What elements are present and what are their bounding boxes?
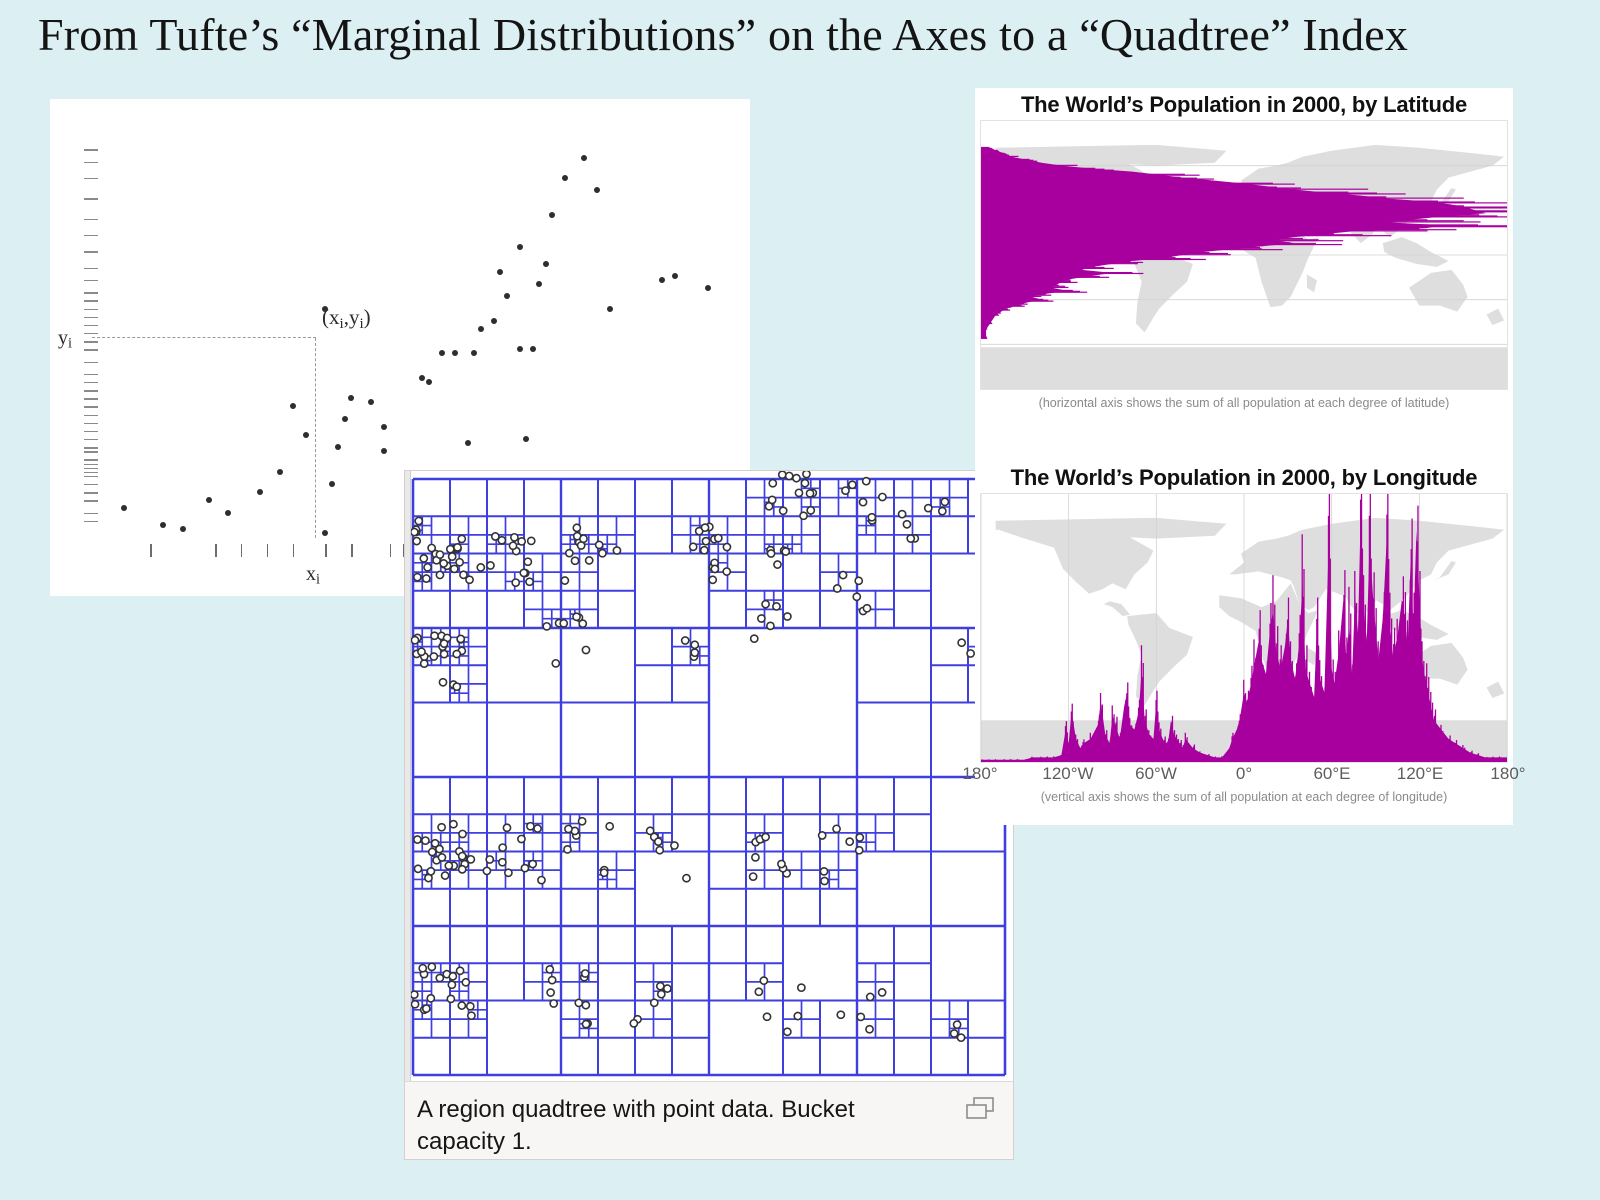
longitude-population-bar — [1140, 717, 1141, 762]
latitude-population-bar — [981, 196, 1386, 197]
quadtree-data-point — [509, 542, 516, 549]
quadtree-data-point — [565, 825, 572, 832]
y-rug-tick — [84, 162, 98, 163]
quadtree-data-point — [546, 966, 553, 973]
scatter-point — [257, 489, 263, 495]
world-map-landmass — [1409, 270, 1467, 312]
figure-left-margin — [405, 471, 411, 1081]
quadtree-data-point — [763, 1013, 770, 1020]
quadtree-data-point — [573, 613, 580, 620]
latitude-population-bar — [981, 208, 1399, 209]
quadtree-data-point — [758, 615, 765, 622]
scatter-point — [465, 440, 471, 446]
y-rug-tick — [84, 492, 98, 493]
scatter-point — [517, 244, 523, 250]
y-guide-dashed-line — [92, 337, 316, 338]
latitude-population-bar — [981, 202, 1507, 203]
x-rug-tick — [325, 544, 326, 557]
quadtree-data-point — [879, 493, 886, 500]
latitude-population-bar — [981, 289, 1048, 290]
world-map-landmass — [1127, 613, 1193, 705]
quadtree-data-point — [421, 660, 428, 667]
quadtree-data-point — [798, 984, 805, 991]
latitude-population-bar — [981, 181, 1210, 182]
page-title: From Tufte’s “Marginal Distributions” on… — [38, 8, 1538, 61]
quadtree-data-point — [415, 517, 422, 524]
quadtree-data-point — [538, 877, 545, 884]
quadtree-data-point — [439, 679, 446, 686]
y-rug-tick — [84, 280, 98, 281]
y-rug-tick — [84, 317, 98, 318]
longitude-population-bar — [1062, 754, 1063, 762]
quadtree-data-point — [429, 848, 436, 855]
y-rug-tick — [84, 149, 98, 150]
quadtree-data-point — [839, 571, 846, 578]
quadtree-data-point — [431, 632, 438, 639]
latitude-population-bar — [981, 158, 1010, 159]
quadtree-data-point — [723, 543, 730, 550]
quadtree-data-point — [547, 989, 554, 996]
latitude-population-bar — [981, 301, 1053, 302]
scatter-point — [121, 505, 127, 511]
quadtree-data-point — [418, 648, 425, 655]
scatter-point — [497, 269, 503, 275]
latitude-population-bar — [981, 190, 1277, 191]
latitude-population-bar — [981, 220, 1464, 221]
quadtree-data-point — [528, 537, 535, 544]
latitude-population-bar — [981, 223, 1363, 224]
y-rug-tick — [84, 333, 98, 334]
y-rug-tick — [84, 439, 98, 440]
quadtree-data-point — [664, 985, 671, 992]
longitude-population-bar — [1300, 656, 1301, 762]
quadtree-data-point — [518, 835, 525, 842]
world-map-landmass — [1307, 274, 1317, 292]
quadtree-data-point — [414, 836, 421, 843]
quadtree-data-point — [571, 557, 578, 564]
quadtree-data-point — [564, 846, 571, 853]
y-axis-label: yi — [58, 327, 72, 353]
latitude-population-bar — [981, 241, 1233, 242]
longitude-population-bar — [989, 760, 990, 762]
quadtree-data-point — [430, 653, 437, 660]
quadtree-data-point — [414, 574, 421, 581]
quadtree-data-point — [941, 498, 948, 505]
quadtree-data-point — [458, 1002, 465, 1009]
quadtree-data-point — [582, 970, 589, 977]
longitude-population-bar — [1286, 634, 1287, 762]
longitude-population-bar — [1018, 760, 1019, 762]
quadtree-data-point — [939, 508, 946, 515]
longitude-population-bar — [1106, 730, 1107, 762]
quadtree-data-point — [691, 649, 698, 656]
y-rug-tick — [84, 292, 98, 293]
longitude-population-bar — [1011, 760, 1012, 762]
longitude-population-bar — [1146, 709, 1147, 762]
quadtree-data-point — [438, 854, 445, 861]
quadtree-data-point — [769, 496, 776, 503]
quadtree-data-point — [468, 1012, 475, 1019]
quadtree-data-point — [498, 537, 505, 544]
quadtree-data-point — [411, 991, 418, 998]
quadtree-data-point — [436, 974, 443, 981]
longitude-population-bar — [1411, 519, 1412, 762]
scatter-point — [517, 346, 523, 352]
quadtree-data-point — [447, 546, 454, 553]
quadtree-data-point — [833, 825, 840, 832]
quadtree-data-point — [767, 550, 774, 557]
quadtree-data-point — [586, 557, 593, 564]
quadtree-data-point — [467, 1003, 474, 1010]
quadtree-data-point — [526, 578, 533, 585]
longitude-population-bar — [1255, 658, 1256, 762]
longitude-population-bar — [1420, 629, 1421, 762]
longitude-population-bar — [1277, 626, 1278, 762]
longitude-population-bar — [1417, 506, 1418, 762]
longitude-tick-label: 120°E — [1397, 764, 1444, 784]
x-axis-label-text: x — [306, 563, 316, 585]
quadtree-data-point — [820, 868, 827, 875]
longitude-population-bar — [1471, 751, 1472, 762]
latitude-population-bar — [981, 193, 1406, 194]
longitude-population-bar — [982, 759, 983, 762]
longitude-population-bar — [1004, 759, 1005, 762]
quadtree-data-point — [441, 640, 448, 647]
quadtree-data-point — [779, 471, 786, 478]
longitude-population-bar — [1292, 661, 1293, 762]
quadtree-data-point — [786, 472, 793, 479]
y-rug-tick — [84, 268, 98, 269]
quadtree-data-point — [561, 577, 568, 584]
quadtree-data-point — [529, 860, 536, 867]
quadtree-data-point — [499, 844, 506, 851]
scatter-point — [348, 395, 354, 401]
longitude-population-bar — [1356, 603, 1357, 762]
quadtree-data-point — [467, 856, 474, 863]
quadtree-data-point — [582, 646, 589, 653]
y-rug-tick — [84, 459, 98, 460]
longitude-population-bar — [1267, 661, 1268, 762]
quadtree-data-point — [855, 577, 862, 584]
quadtree-data-point — [800, 512, 807, 519]
x-rug-tick — [215, 544, 216, 557]
longitude-population-bar — [1113, 714, 1114, 762]
quadtree-data-point — [782, 548, 789, 555]
longitude-population-bar — [1128, 706, 1129, 762]
quadtree-data-point — [751, 635, 758, 642]
quadtree-data-point — [534, 825, 541, 832]
y-rug-tick — [84, 382, 98, 383]
quadtree-data-point — [573, 524, 580, 531]
longitude-tick-label: 0° — [1236, 764, 1252, 784]
expand-image-icon[interactable] — [965, 1096, 995, 1122]
quadtree-data-point — [582, 1021, 589, 1028]
quadtree-data-point — [566, 550, 573, 557]
latitude-population-bar — [981, 338, 987, 339]
quadtree-data-point — [511, 534, 518, 541]
scatter-point — [491, 318, 497, 324]
longitude-population-bar — [1091, 737, 1092, 762]
quadtree-data-point — [543, 623, 550, 630]
world-map-landmass — [1487, 682, 1505, 698]
quadtree-data-point — [856, 834, 863, 841]
world-map-landmass — [1383, 237, 1449, 267]
quadtree-data-point — [853, 593, 860, 600]
quadtree-data-point — [656, 847, 663, 854]
longitude-population-bar — [1318, 646, 1319, 762]
latitude-population-bar — [981, 155, 1009, 156]
longitude-population-bar — [1084, 746, 1085, 762]
longitude-tick-label: 120°W — [1042, 764, 1093, 784]
scatter-point — [594, 187, 600, 193]
quadtree-data-point — [436, 571, 443, 578]
quadtree-data-point — [846, 838, 853, 845]
latitude-chart — [980, 120, 1508, 390]
quadtree-data-point — [459, 830, 466, 837]
x-rug-tick — [351, 544, 352, 557]
longitude-population-bar — [1373, 572, 1374, 762]
longitude-population-bar — [1033, 758, 1034, 762]
quadtree-data-point — [512, 579, 519, 586]
longitude-chart-title: The World’s Population in 2000, by Longi… — [975, 465, 1513, 491]
quadtree-data-point — [560, 620, 567, 627]
scatter-point — [419, 375, 425, 381]
longitude-population-bar — [1432, 703, 1433, 762]
quadtree-data-point — [438, 824, 445, 831]
latitude-population-bar — [981, 307, 1011, 308]
y-rug-tick — [84, 362, 98, 363]
quadtree-data-point — [499, 859, 506, 866]
latitude-population-bar — [981, 217, 1362, 218]
scatter-point — [672, 273, 678, 279]
quadtree-data-point — [856, 847, 863, 854]
world-map-landmass — [1434, 561, 1456, 580]
y-rug-tick — [84, 300, 98, 301]
quadtree-data-point — [954, 1021, 961, 1028]
scatter-point — [659, 277, 665, 283]
quadtree-data-point — [682, 637, 689, 644]
scatter-point — [342, 416, 348, 422]
scatter-point — [329, 481, 335, 487]
latitude-population-bar — [981, 280, 1071, 281]
longitude-population-bar — [1486, 757, 1487, 762]
quadtree-data-point — [582, 1002, 589, 1009]
y-rug-tick — [84, 468, 98, 469]
quadtree-data-point — [925, 505, 932, 512]
longitude-population-bar — [1081, 746, 1082, 762]
quadtree-data-point — [967, 650, 974, 657]
y-rug-tick — [84, 341, 98, 342]
scatter-point — [160, 522, 166, 528]
longitude-population-bar — [1160, 729, 1161, 762]
longitude-population-bar — [1072, 721, 1073, 762]
quadtree-data-point — [834, 585, 841, 592]
latitude-population-bar — [981, 292, 1087, 293]
quadtree-data-point — [773, 603, 780, 610]
quadtree-data-point — [457, 635, 464, 642]
quadtree-data-point — [868, 514, 875, 521]
scatter-point — [581, 155, 587, 161]
scatter-point — [368, 399, 374, 405]
quadtree-data-point — [442, 872, 449, 879]
scatter-point — [206, 497, 212, 503]
longitude-population-bar — [1379, 661, 1380, 762]
y-axis-label-subscript: i — [68, 336, 72, 352]
longitude-population-bar — [1143, 663, 1144, 762]
latitude-chart-caption: (horizontal axis shows the sum of all po… — [975, 396, 1513, 410]
latitude-population-bar — [981, 268, 1114, 269]
longitude-population-bar — [1303, 569, 1304, 762]
quadtree-caption-bar: A region quadtree with point data. Bucke… — [405, 1081, 1013, 1159]
quadtree-data-point — [691, 641, 698, 648]
quadtree-data-point — [657, 983, 664, 990]
latitude-population-bar — [981, 256, 1172, 257]
longitude-population-bar — [1169, 745, 1170, 762]
longitude-population-bar — [1414, 639, 1415, 762]
quadtree-data-point — [793, 475, 800, 482]
longitude-population-bar — [1335, 699, 1336, 762]
quadtree-data-point — [596, 541, 603, 548]
quadtree-data-point — [803, 471, 810, 478]
y-rug-tick — [84, 374, 98, 375]
quadtree-data-point — [658, 991, 665, 998]
longitude-population-bar — [1384, 592, 1385, 762]
latitude-population-bar — [981, 259, 1206, 260]
longitude-population-bar — [1186, 737, 1187, 762]
longitude-population-bar — [1296, 663, 1297, 762]
quadtree-data-point — [709, 576, 716, 583]
longitude-population-bar — [1157, 712, 1158, 762]
longitude-population-bar — [997, 760, 998, 762]
world-map-landmass — [981, 347, 1507, 389]
longitude-population-bar — [1479, 756, 1480, 762]
quadtree-data-point — [690, 543, 697, 550]
quadtree-data-point — [767, 622, 774, 629]
quadtree-data-point — [613, 547, 620, 554]
longitude-population-bar — [1172, 716, 1173, 762]
quadtree-data-point — [819, 832, 826, 839]
latitude-population-bar — [981, 229, 1456, 230]
y-rug-tick — [84, 464, 98, 465]
quadtree-data-point — [466, 576, 473, 583]
longitude-population-bar — [1110, 746, 1111, 762]
latitude-population-bar — [981, 214, 1479, 215]
latitude-population-bar — [981, 286, 1065, 287]
longitude-population-bar — [1330, 559, 1331, 762]
scatter-point — [562, 175, 568, 181]
quadtree-data-point — [899, 511, 906, 518]
longitude-population-bar — [1077, 739, 1078, 762]
longitude-population-bar — [1464, 748, 1465, 762]
quadtree-data-point — [449, 973, 456, 980]
longitude-population-bar — [1359, 613, 1360, 762]
population-charts-panel: The World’s Population in 2000, by Latit… — [975, 88, 1513, 825]
longitude-population-bar — [1362, 549, 1363, 762]
longitude-population-bar — [1099, 715, 1100, 762]
longitude-population-bar — [1248, 691, 1249, 762]
quadtree-data-point — [801, 480, 808, 487]
quadtree-data-point — [807, 507, 814, 514]
scatter-point — [705, 285, 711, 291]
x-rug-tick — [150, 544, 151, 557]
latitude-chart-svg — [981, 121, 1507, 389]
quadtree-data-point — [958, 639, 965, 646]
annotation-mid: ,y — [344, 305, 360, 329]
longitude-population-bar — [1238, 726, 1239, 762]
latitude-population-bar — [981, 226, 1507, 227]
longitude-population-bar — [1241, 729, 1242, 762]
quadtree-data-point — [459, 866, 466, 873]
latitude-population-bar — [981, 199, 1346, 200]
quadtree-data-point — [601, 869, 608, 876]
scatter-point — [277, 469, 283, 475]
quadtree-data-point — [774, 561, 781, 568]
quadtree-data-point — [857, 1013, 864, 1020]
quadtree-data-point — [702, 538, 709, 545]
longitude-population-bar — [1245, 693, 1246, 762]
longitude-tick-label: 180° — [1490, 764, 1525, 784]
quadtree-data-point — [806, 490, 813, 497]
quadtree-data-point — [524, 558, 531, 565]
quadtree-data-point — [505, 869, 512, 876]
scatter-point — [322, 530, 328, 536]
quadtree-data-point — [957, 1034, 964, 1041]
longitude-population-bar — [1184, 750, 1185, 762]
longitude-chart-svg — [981, 494, 1507, 762]
y-rug-tick — [84, 325, 98, 326]
quadtree-data-point — [795, 489, 802, 496]
quadtree-data-point — [428, 963, 435, 970]
y-rug-tick — [84, 198, 98, 199]
longitude-population-bar — [1271, 649, 1272, 762]
latitude-population-bar — [981, 250, 1188, 251]
longitude-tick-label: 60°W — [1135, 764, 1177, 784]
longitude-tick-label: 180° — [962, 764, 997, 784]
y-rug-tick — [84, 484, 98, 485]
longitude-population-bar — [1223, 757, 1224, 762]
quadtree-data-point — [755, 988, 762, 995]
quadtree-data-point — [837, 1011, 844, 1018]
longitude-population-bar — [1216, 758, 1217, 762]
scatter-point — [381, 424, 387, 430]
longitude-population-bar — [1423, 661, 1424, 762]
y-axis-label-text: y — [58, 327, 68, 349]
quadtree-data-point — [715, 535, 722, 542]
latitude-population-bar — [981, 211, 1507, 212]
longitude-population-bar — [1165, 737, 1166, 762]
longitude-population-bar — [1435, 709, 1436, 762]
longitude-population-bar — [1154, 735, 1155, 762]
quadtree-data-point — [453, 650, 460, 657]
quadtree-canvas — [405, 471, 1013, 1081]
quadtree-data-point — [456, 559, 463, 566]
quadtree-data-point — [784, 613, 791, 620]
y-rug-tick — [84, 219, 98, 220]
latitude-population-bar — [981, 247, 1260, 248]
latitude-population-bar — [981, 152, 993, 153]
latitude-population-bar — [981, 274, 1094, 275]
longitude-chart — [980, 493, 1508, 763]
quadtree-data-point — [411, 1001, 418, 1008]
longitude-population-bar — [1442, 731, 1443, 762]
quadtree-data-point — [951, 1030, 958, 1037]
latitude-population-bar — [981, 277, 1109, 278]
scatter-point — [549, 212, 555, 218]
longitude-population-bar — [1350, 614, 1351, 762]
quadtree-data-point — [859, 499, 866, 506]
latitude-population-bar — [981, 295, 1051, 296]
scatter-point — [543, 261, 549, 267]
